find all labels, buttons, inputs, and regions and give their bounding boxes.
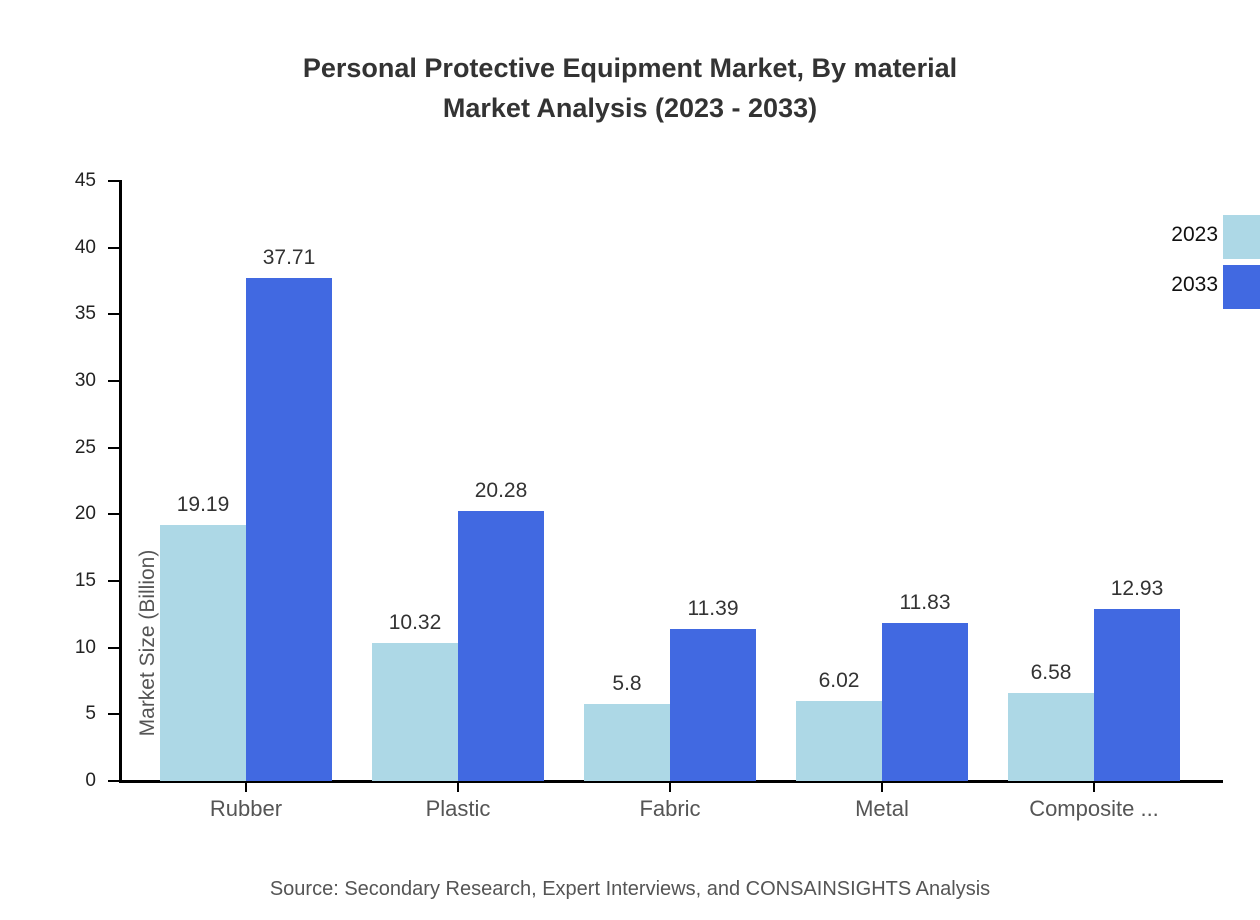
x-axis-label-fabric: Fabric: [560, 795, 780, 824]
chart-title-line-1: Personal Protective Equipment Market, By…: [0, 48, 1260, 88]
legend-label-2033: 2033: [1130, 274, 1218, 295]
source-note: Source: Secondary Research, Expert Inter…: [0, 878, 1260, 901]
y-tick-label-10: 10: [36, 638, 96, 657]
bar-fabric-2033[interactable]: [670, 629, 756, 781]
legend-item-2033[interactable]: 2033: [1130, 265, 1260, 309]
y-tick-45: [108, 180, 120, 182]
bar-value-label-composite--2033: 12.93: [1072, 578, 1202, 599]
x-tick-fabric: [669, 781, 671, 792]
y-tick-label-45: 45: [36, 171, 96, 190]
chart-title: Personal Protective Equipment Market, By…: [0, 48, 1260, 128]
y-tick-40: [108, 247, 120, 249]
legend-swatch-2023: [1223, 215, 1260, 259]
bar-value-label-metal-2033: 11.83: [860, 592, 990, 613]
legend-item-2023[interactable]: 2023: [1130, 215, 1260, 259]
bar-fabric-2023[interactable]: [584, 704, 670, 781]
x-tick-metal: [881, 781, 883, 792]
y-tick-label-30: 30: [36, 371, 96, 390]
chart-title-line-2: Market Analysis (2023 - 2033): [0, 88, 1260, 128]
y-tick-label-0: 0: [36, 771, 96, 790]
x-tick-plastic: [457, 781, 459, 792]
bar-composite--2023[interactable]: [1008, 693, 1094, 781]
legend-swatch-2033: [1223, 265, 1260, 309]
bar-chart: Personal Protective Equipment Market, By…: [0, 0, 1260, 920]
y-tick-15: [108, 580, 120, 582]
bar-value-label-rubber-2033: 37.71: [224, 247, 354, 268]
bar-plastic-2023[interactable]: [372, 643, 458, 781]
y-tick-35: [108, 313, 120, 315]
legend-label-2023: 2023: [1130, 224, 1218, 245]
x-axis-label-rubber: Rubber: [136, 795, 356, 824]
x-axis-label-plastic: Plastic: [348, 795, 568, 824]
y-tick-30: [108, 380, 120, 382]
bar-value-label-plastic-2033: 20.28: [436, 480, 566, 501]
y-tick-10: [108, 647, 120, 649]
x-tick-composite-: [1093, 781, 1095, 792]
x-axis-label-metal: Metal: [772, 795, 992, 824]
y-tick-label-15: 15: [36, 571, 96, 590]
y-tick-label-40: 40: [36, 238, 96, 257]
y-tick-label-35: 35: [36, 304, 96, 323]
bar-metal-2023[interactable]: [796, 701, 882, 781]
y-tick-label-25: 25: [36, 438, 96, 457]
y-tick-20: [108, 513, 120, 515]
y-tick-0: [108, 780, 120, 782]
bar-value-label-fabric-2033: 11.39: [648, 598, 778, 619]
x-axis-label-composite-: Composite ...: [984, 795, 1204, 824]
bar-metal-2033[interactable]: [882, 623, 968, 781]
y-tick-label-20: 20: [36, 504, 96, 523]
y-tick-label-5: 5: [36, 704, 96, 723]
bar-plastic-2033[interactable]: [458, 511, 544, 781]
bar-rubber-2033[interactable]: [246, 278, 332, 781]
y-tick-25: [108, 447, 120, 449]
y-tick-5: [108, 713, 120, 715]
bar-composite--2033[interactable]: [1094, 609, 1180, 781]
bar-rubber-2023[interactable]: [160, 525, 246, 781]
x-tick-rubber: [245, 781, 247, 792]
